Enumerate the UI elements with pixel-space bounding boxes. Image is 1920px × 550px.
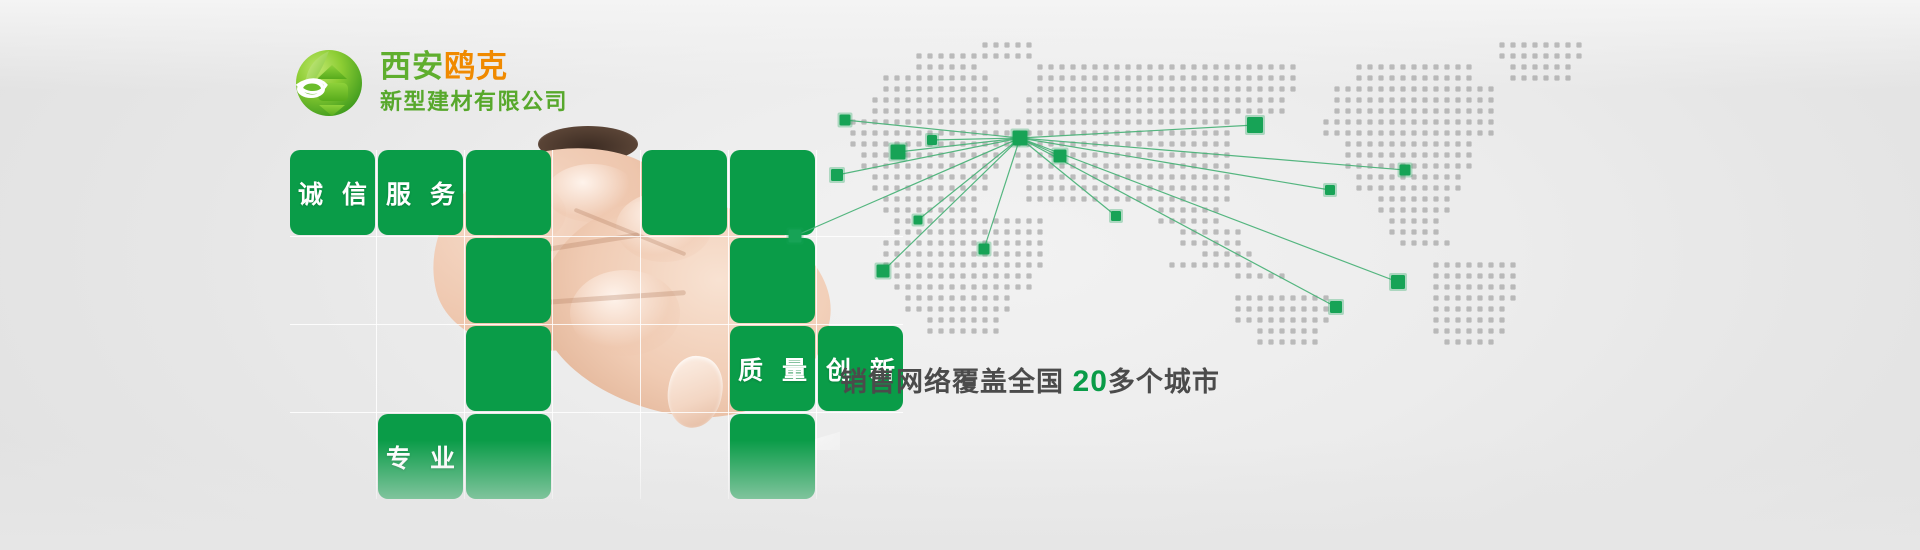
bottom-gradient-overlay: [0, 440, 1920, 550]
city-marker: [840, 115, 851, 126]
brand-city: 西安: [380, 49, 444, 84]
brand-title: 西安鸥克: [380, 51, 568, 82]
mosaic-tile-2-1: [378, 326, 463, 411]
city-marker: [1400, 165, 1411, 176]
brand-logo[interactable]: 西安鸥克 新型建材有限公司: [292, 45, 568, 119]
mosaic-tile-1-4: [642, 238, 727, 323]
network-line: [1020, 138, 1398, 282]
network-line: [1020, 125, 1255, 138]
mosaic-tile-3-6: [818, 414, 903, 499]
value-tile-label: 专 业: [378, 439, 463, 475]
tagline-suffix: 多个城市: [1108, 367, 1220, 397]
city-marker: [914, 216, 923, 225]
mosaic-tile-1-2: [466, 238, 551, 323]
value-tile-label: 服 务: [378, 175, 463, 211]
tagline-prefix: 销售网络覆盖全国: [840, 367, 1064, 397]
mosaic-tile-1-0: [290, 238, 375, 323]
city-marker: [1391, 275, 1405, 289]
network-line: [918, 138, 1020, 220]
city-marker: [1325, 185, 1335, 195]
value-tile-0-0[interactable]: 诚 信: [290, 150, 375, 235]
value-tile-label: 诚 信: [290, 175, 375, 211]
hub-marker: [1013, 131, 1028, 146]
city-marker: [789, 230, 802, 243]
city-marker: [877, 265, 890, 278]
mosaic-tile-2-0: [290, 326, 375, 411]
sales-network-tagline: 销售网络覆盖全国 20多个城市: [840, 360, 1220, 399]
dotted-world-map-icon: [735, 20, 1865, 370]
city-marker: [1330, 301, 1342, 313]
mosaic-tile-1-1: [378, 238, 463, 323]
mosaic-tile-0-4: [642, 150, 727, 235]
mosaic-tile-0-2: [466, 150, 551, 235]
mosaic-tile-1-3: [554, 238, 639, 323]
city-marker: [979, 244, 990, 255]
city-marker: [1054, 150, 1067, 163]
mosaic-tile-2-4: [642, 326, 727, 411]
mosaic-tile-3-4: [642, 414, 727, 499]
mosaic-tile-3-5: [730, 414, 815, 499]
tagline-highlight: 20: [1073, 365, 1108, 398]
mosaic-tile-3-0: [290, 414, 375, 499]
city-marker: [891, 145, 906, 160]
company-banner: 西安鸥克 新型建材有限公司 诚 信服 务质 量创 新专 业 销售网络覆盖全国 2…: [0, 0, 1920, 550]
city-marker: [831, 169, 843, 181]
city-marker: [1247, 117, 1263, 133]
network-markers: [787, 113, 1413, 316]
value-tile-3-1[interactable]: 专 业: [378, 414, 463, 499]
city-marker: [1111, 211, 1121, 221]
map-dot-layer: [850, 42, 1581, 344]
city-marker: [927, 135, 937, 145]
value-tile-0-1[interactable]: 服 务: [378, 150, 463, 235]
mosaic-tile-2-3: [554, 326, 639, 411]
mosaic-tile-0-3: [554, 150, 639, 235]
brand-name: 鸥克: [444, 49, 508, 84]
mosaic-tile-3-2: [466, 414, 551, 499]
brand-subtitle: 新型建材有限公司: [380, 91, 568, 113]
brand-text: 西安鸥克 新型建材有限公司: [380, 51, 568, 113]
mosaic-tile-2-2: [466, 326, 551, 411]
mosaic-tile-3-3: [554, 414, 639, 499]
leaf-globe-logo-icon: [292, 45, 366, 119]
